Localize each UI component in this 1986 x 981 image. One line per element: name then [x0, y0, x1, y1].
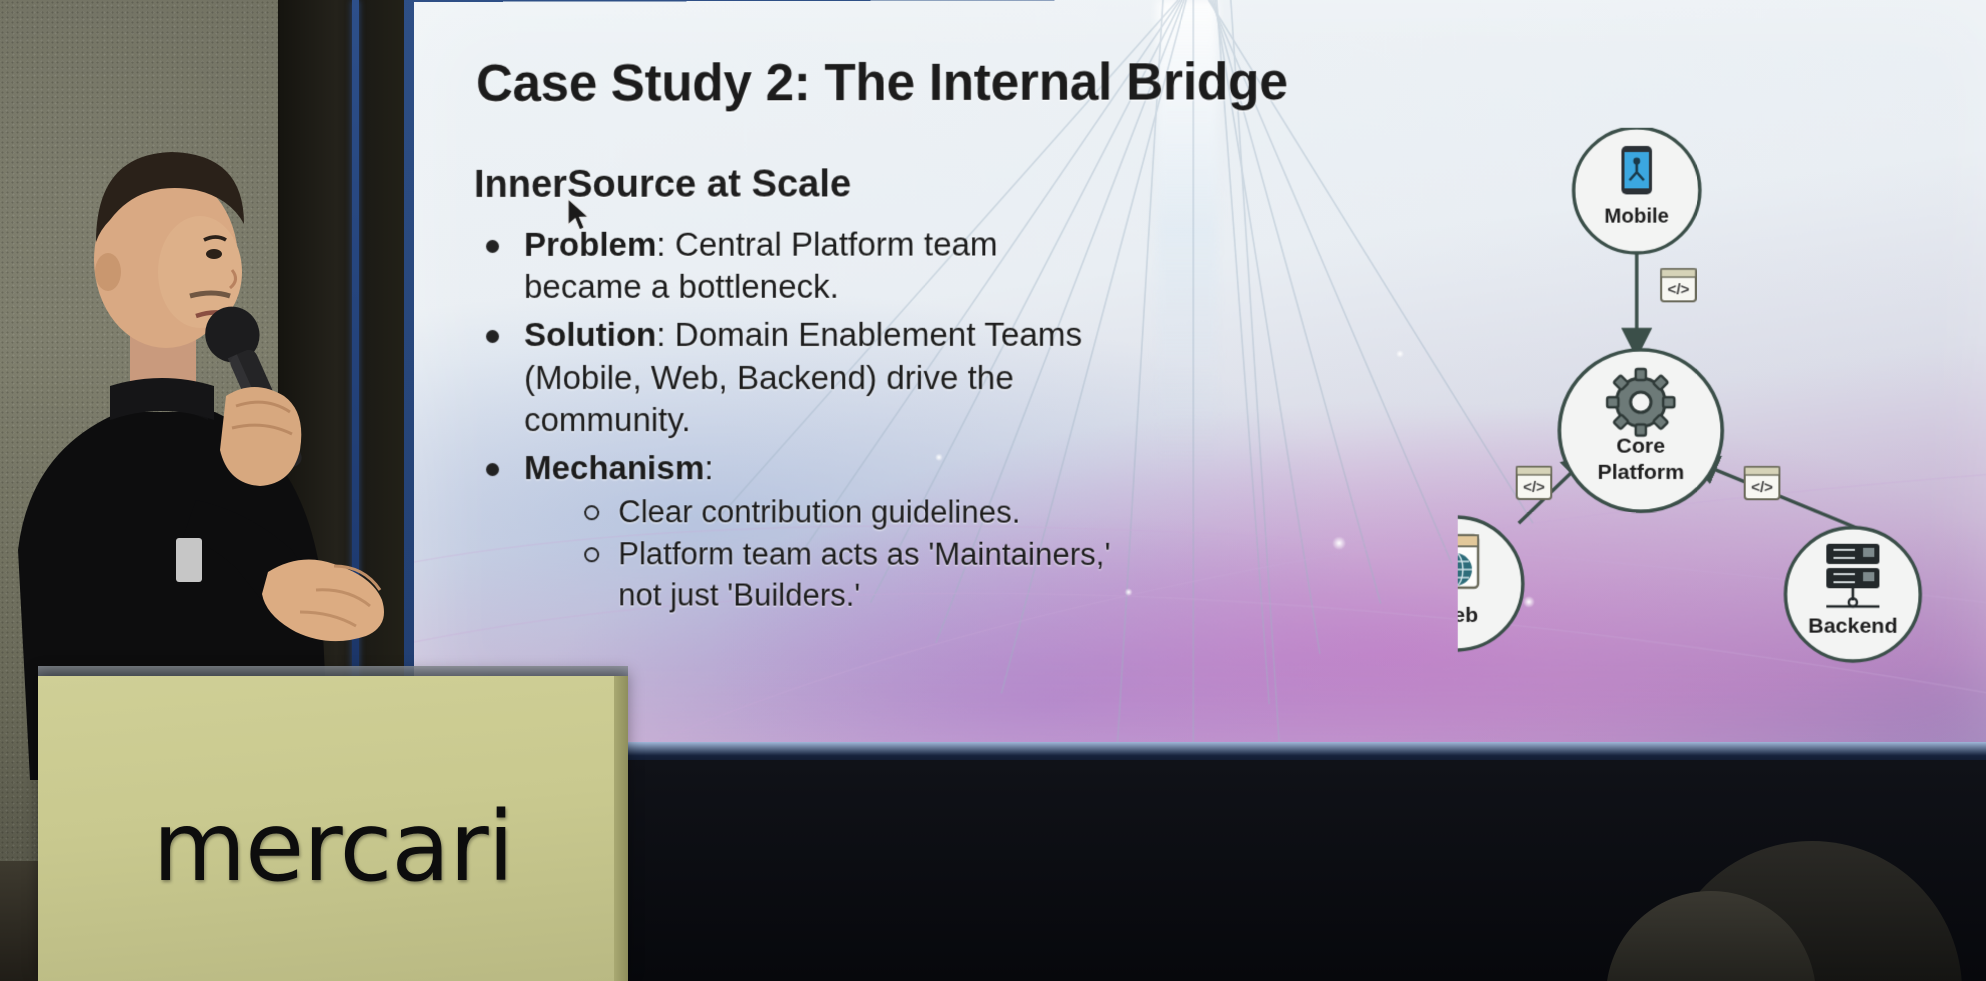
svg-text:</>: </> — [1523, 479, 1545, 496]
sub-bullet-guidelines: Clear contribution guidelines. — [572, 492, 1115, 534]
code-badge-web: </> — [1517, 467, 1552, 499]
sub-bullet-maintainers: Platform team acts as 'Maintainers,' not… — [572, 533, 1115, 617]
arrow-pointer-icon — [566, 198, 592, 234]
podium-right-edge — [614, 676, 628, 981]
speaker-badge — [176, 538, 202, 582]
bullet-mechanism-label: Mechanism — [524, 449, 704, 486]
presentation-photo: Case Study 2: The Internal Bridge InnerS… — [0, 0, 1986, 981]
gear-icon — [1607, 369, 1674, 436]
slide-subtitle: InnerSource at Scale — [474, 163, 851, 207]
bullet-list: Problem: Central Platform team became a … — [472, 223, 1115, 623]
speaker-hand-holding-mic — [220, 387, 301, 486]
node-label-web: Web — [1458, 604, 1478, 627]
bullet-solution: Solution: Domain Enablement Teams (Mobil… — [472, 314, 1115, 441]
bullet-solution-label: Solution — [524, 316, 656, 353]
globe-browser-icon — [1458, 535, 1478, 587]
svg-text:</>: </> — [1667, 281, 1689, 298]
slide-title: Case Study 2: The Internal Bridge — [476, 52, 1288, 113]
architecture-diagram: Mobile </> — [1458, 127, 1978, 714]
code-badge-mobile: </> — [1661, 269, 1696, 301]
svg-text:Core: Core — [1616, 435, 1665, 458]
projection-screen: Case Study 2: The Internal Bridge InnerS… — [414, 0, 1986, 746]
mercari-logo: mercari — [153, 791, 514, 903]
node-label-mobile: Mobile — [1605, 205, 1669, 227]
podium: mercari — [38, 676, 628, 981]
diagram-node-core-platform: Core Platform — [1559, 350, 1722, 512]
bullet-problem: Problem: Central Platform team became a … — [472, 223, 1115, 308]
svg-text:Platform: Platform — [1597, 461, 1684, 484]
diagram-node-backend: Backend — [1786, 528, 1921, 662]
bullet-mechanism-text: : — [704, 449, 713, 486]
diagram-node-web: Web — [1458, 517, 1523, 650]
sub-bullet-list: Clear contribution guidelines. Platform … — [524, 492, 1115, 618]
node-label-backend: Backend — [1808, 614, 1897, 637]
svg-text:</>: </> — [1751, 479, 1773, 496]
diagram-node-mobile: Mobile — [1574, 128, 1700, 253]
code-badge-backend: </> — [1745, 467, 1780, 499]
bullet-mechanism: Mechanism: Clear contribution guidelines… — [472, 447, 1115, 617]
slide-content: Case Study 2: The Internal Bridge InnerS… — [414, 0, 1986, 746]
